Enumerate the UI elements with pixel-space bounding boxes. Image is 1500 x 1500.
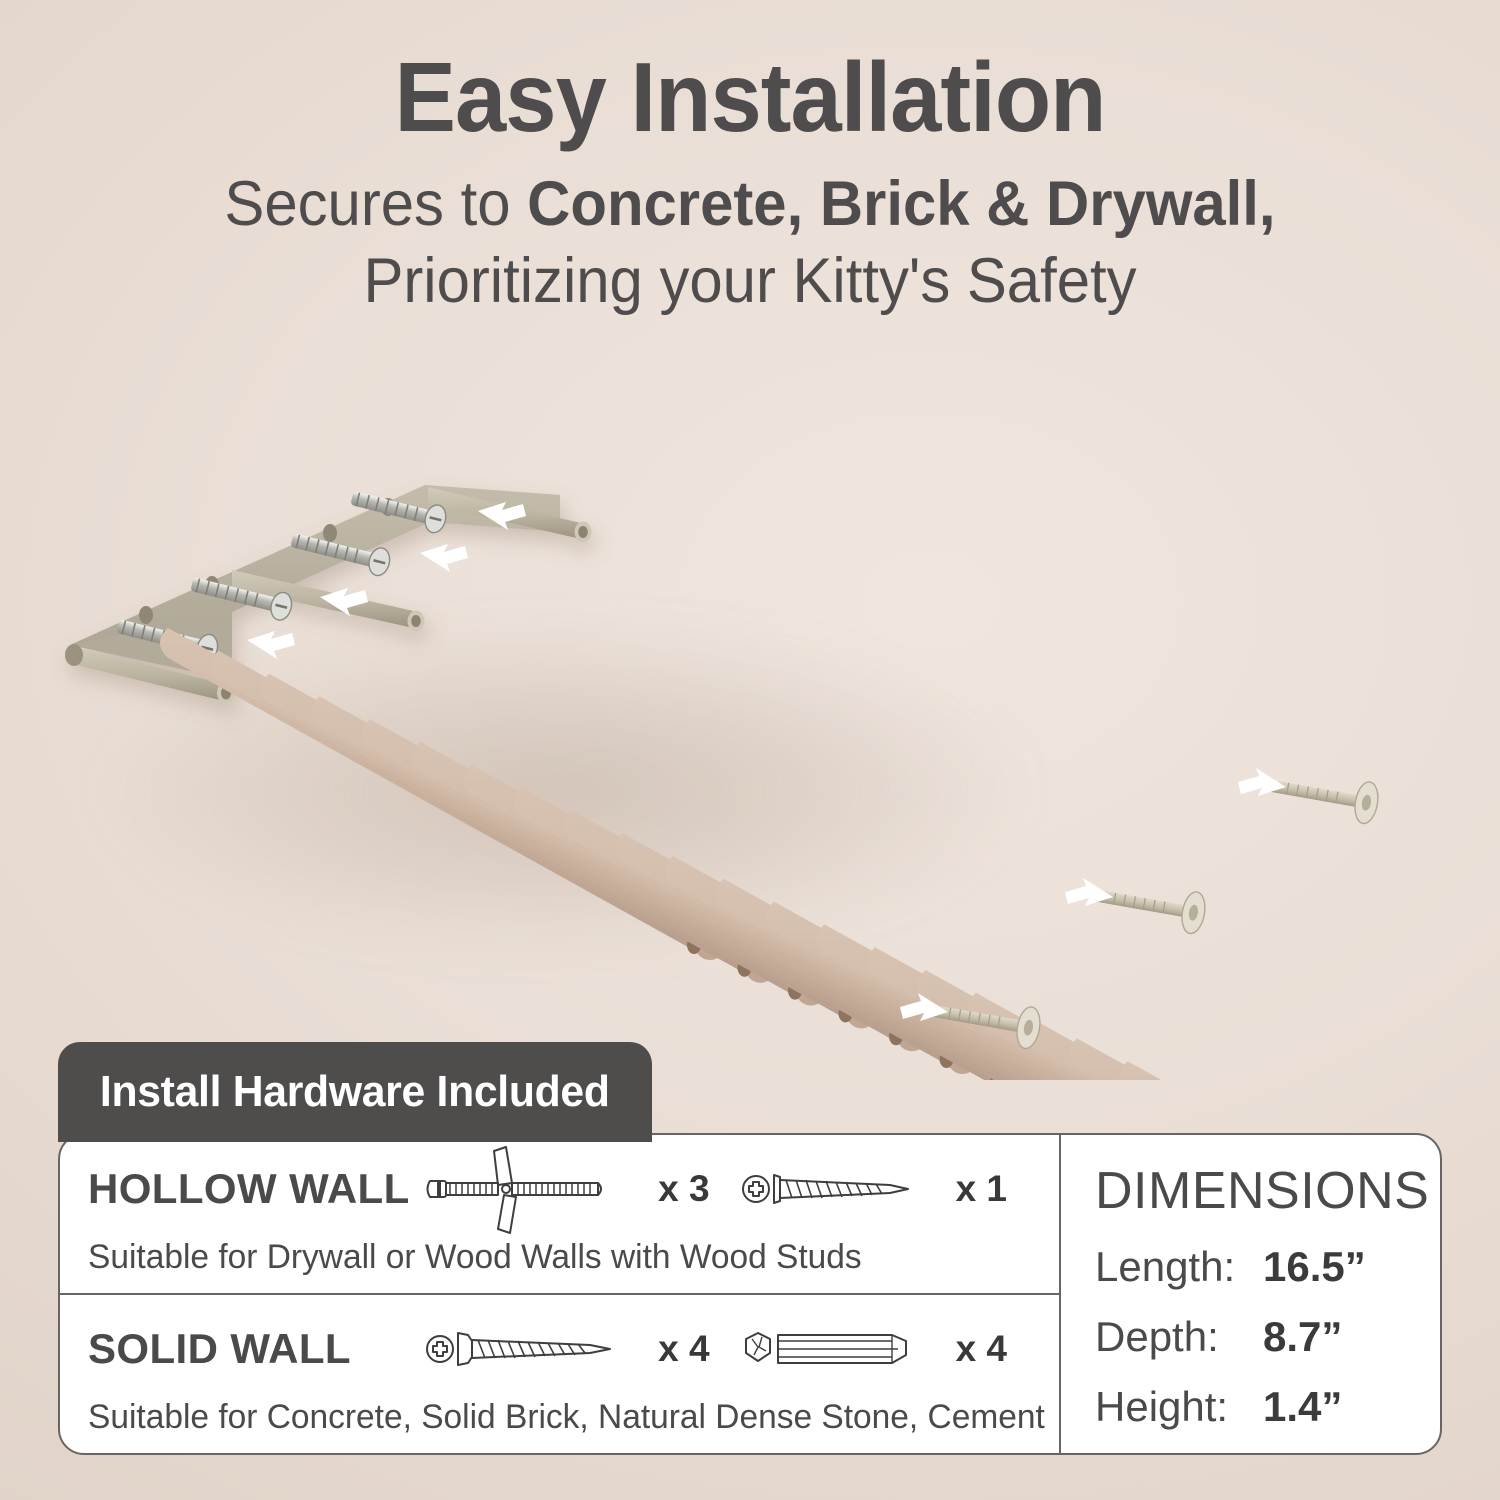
solid-wall-items: x 4	[424, 1321, 1059, 1377]
dimension-row-length: Length: 16.5”	[1095, 1243, 1440, 1291]
dimension-value-height: 1.4”	[1263, 1383, 1342, 1431]
toggle-bolt-icon	[422, 1141, 642, 1237]
dimension-row-height: Height: 1.4”	[1095, 1383, 1440, 1431]
phillips-wood-screw-icon	[740, 1161, 940, 1217]
dimension-key-length: Length:	[1095, 1243, 1263, 1291]
bracket-hole	[139, 606, 153, 624]
bracket-hole	[323, 524, 337, 542]
dimension-key-height: Height:	[1095, 1383, 1263, 1431]
solid-wall-item-1: x 4	[740, 1321, 1037, 1377]
shelf-slat	[1120, 1061, 1500, 1080]
subtitle-bold-text: Concrete, Brick & Drywall,	[527, 169, 1275, 239]
subtitle-line-1: Secures to Concrete, Brick & Drywall,	[38, 166, 1463, 243]
hollow-wall-label: HOLLOW WALL	[88, 1165, 410, 1213]
hollow-wall-description: Suitable for Drywall or Wood Walls with …	[88, 1238, 1044, 1277]
wall-anchor-sleeve-icon	[740, 1321, 940, 1377]
phillips-flat-screw-icon	[424, 1321, 642, 1377]
hardware-row-hollow-wall: HOLLOW WALL	[60, 1135, 1059, 1295]
page-title: Easy Installation	[45, 46, 1455, 150]
dimensions-title: DIMENSIONS	[1095, 1161, 1440, 1221]
hollow-wall-row-top: HOLLOW WALL	[88, 1152, 1059, 1226]
solid-wall-row-top: SOLID WALL x	[88, 1312, 1059, 1386]
hollow-wall-item-1: x 1	[740, 1161, 1037, 1217]
dimension-key-depth: Depth:	[1095, 1313, 1263, 1361]
subtitle-plain-text: Secures to	[224, 169, 527, 239]
product-illustration	[0, 440, 1500, 1080]
install-hardware-header: Install Hardware Included	[58, 1042, 652, 1142]
dimension-value-depth: 8.7”	[1263, 1313, 1342, 1361]
hollow-wall-qty-1: x 1	[956, 1168, 1007, 1210]
hardware-row-solid-wall: SOLID WALL x	[60, 1295, 1059, 1453]
dimensions-column: DIMENSIONS Length: 16.5” Depth: 8.7” Hei…	[1059, 1135, 1440, 1453]
solid-wall-label: SOLID WALL	[88, 1325, 351, 1373]
solid-wall-qty-1: x 4	[956, 1328, 1007, 1370]
marketing-headings: Easy Installation Secures to Concrete, B…	[0, 46, 1500, 320]
slatted-shelf	[160, 628, 1500, 1080]
install-hardware-card: HOLLOW WALL	[58, 1133, 1442, 1455]
solid-wall-item-0: x 4	[424, 1321, 739, 1377]
solid-wall-qty-0: x 4	[658, 1328, 709, 1370]
hardware-list-column: HOLLOW WALL	[60, 1135, 1059, 1453]
dimension-row-depth: Depth: 8.7”	[1095, 1313, 1440, 1361]
hollow-wall-qty-0: x 3	[658, 1168, 709, 1210]
hollow-wall-items: x 3 x 1	[422, 1141, 1059, 1237]
solid-wall-description: Suitable for Concrete, Solid Brick, Natu…	[88, 1398, 1044, 1437]
dimension-value-length: 16.5”	[1263, 1243, 1366, 1291]
product-svg	[0, 440, 1500, 1080]
hollow-wall-item-0: x 3	[422, 1141, 739, 1237]
subtitle-line-2: Prioritizing your Kitty's Safety	[38, 243, 1463, 320]
install-hardware-header-label: Install Hardware Included	[100, 1067, 610, 1117]
